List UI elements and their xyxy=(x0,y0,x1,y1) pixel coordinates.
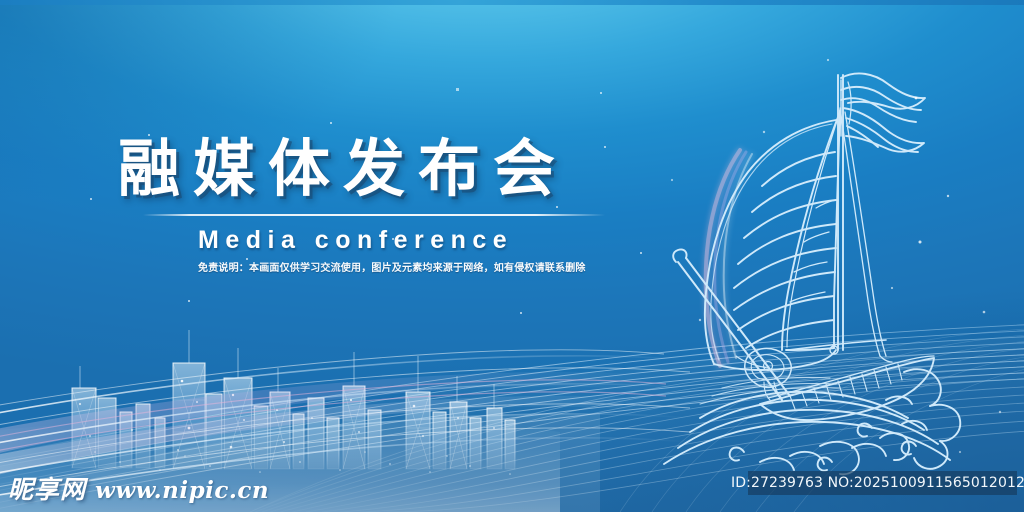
sparkle-layer xyxy=(0,0,1024,512)
poster-canvas: 融媒体发布会 Media conference 免责说明：本画面仅供学习交流使用… xyxy=(0,0,1024,512)
watermark: 昵享网 www.nipic.cn xyxy=(8,470,269,506)
stock-id-badge: ID:27239763 NO:20251009115650120128 xyxy=(748,471,1017,495)
watermark-url: www.nipic.cn xyxy=(95,477,269,504)
watermark-site-name: 昵享网 xyxy=(8,470,86,506)
